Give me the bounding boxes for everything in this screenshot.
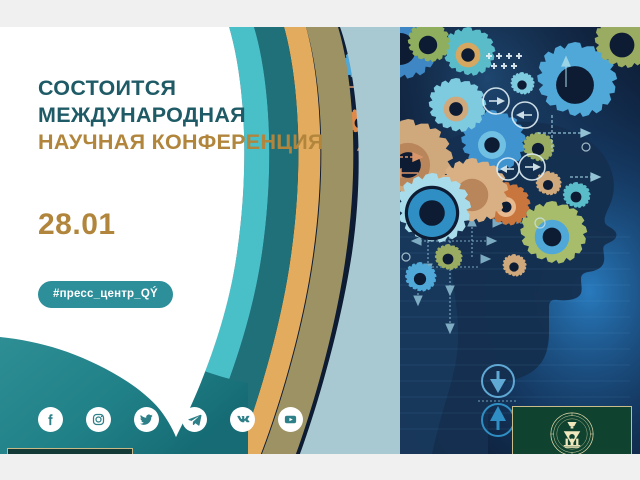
twitter-icon[interactable] bbox=[134, 407, 159, 432]
instagram-icon[interactable] bbox=[86, 407, 111, 432]
university-logo-card: www.kazmkpu.kz bbox=[512, 406, 632, 454]
headline-line-1: СОСТОИТСЯ bbox=[38, 75, 378, 102]
telegram-icon[interactable] bbox=[182, 407, 207, 432]
slide-canvas: СОСТОИТСЯ МЕЖДУНАРОДНАЯ НАУЧНАЯ КОНФЕРЕН… bbox=[0, 27, 640, 454]
vk-icon[interactable] bbox=[230, 407, 255, 432]
hashtag-badge[interactable]: #пресс_центр_QÝ bbox=[38, 281, 173, 308]
university-badge: Qyzdar Ýnıversıteti bbox=[7, 448, 133, 454]
event-date: 28.01 bbox=[38, 208, 116, 242]
social-links bbox=[38, 407, 303, 432]
page-title: СОСТОИТСЯ МЕЖДУНАРОДНАЯ НАУЧНАЯ КОНФЕРЕН… bbox=[38, 75, 378, 156]
bottom-teal-band bbox=[0, 327, 248, 454]
university-seal-icon bbox=[549, 411, 595, 454]
headline-line-2: МЕЖДУНАРОДНАЯ bbox=[38, 102, 378, 129]
headline-line-3: НАУЧНАЯ КОНФЕРЕНЦИЯ bbox=[38, 129, 378, 156]
facebook-icon[interactable] bbox=[38, 407, 63, 432]
youtube-icon[interactable] bbox=[278, 407, 303, 432]
